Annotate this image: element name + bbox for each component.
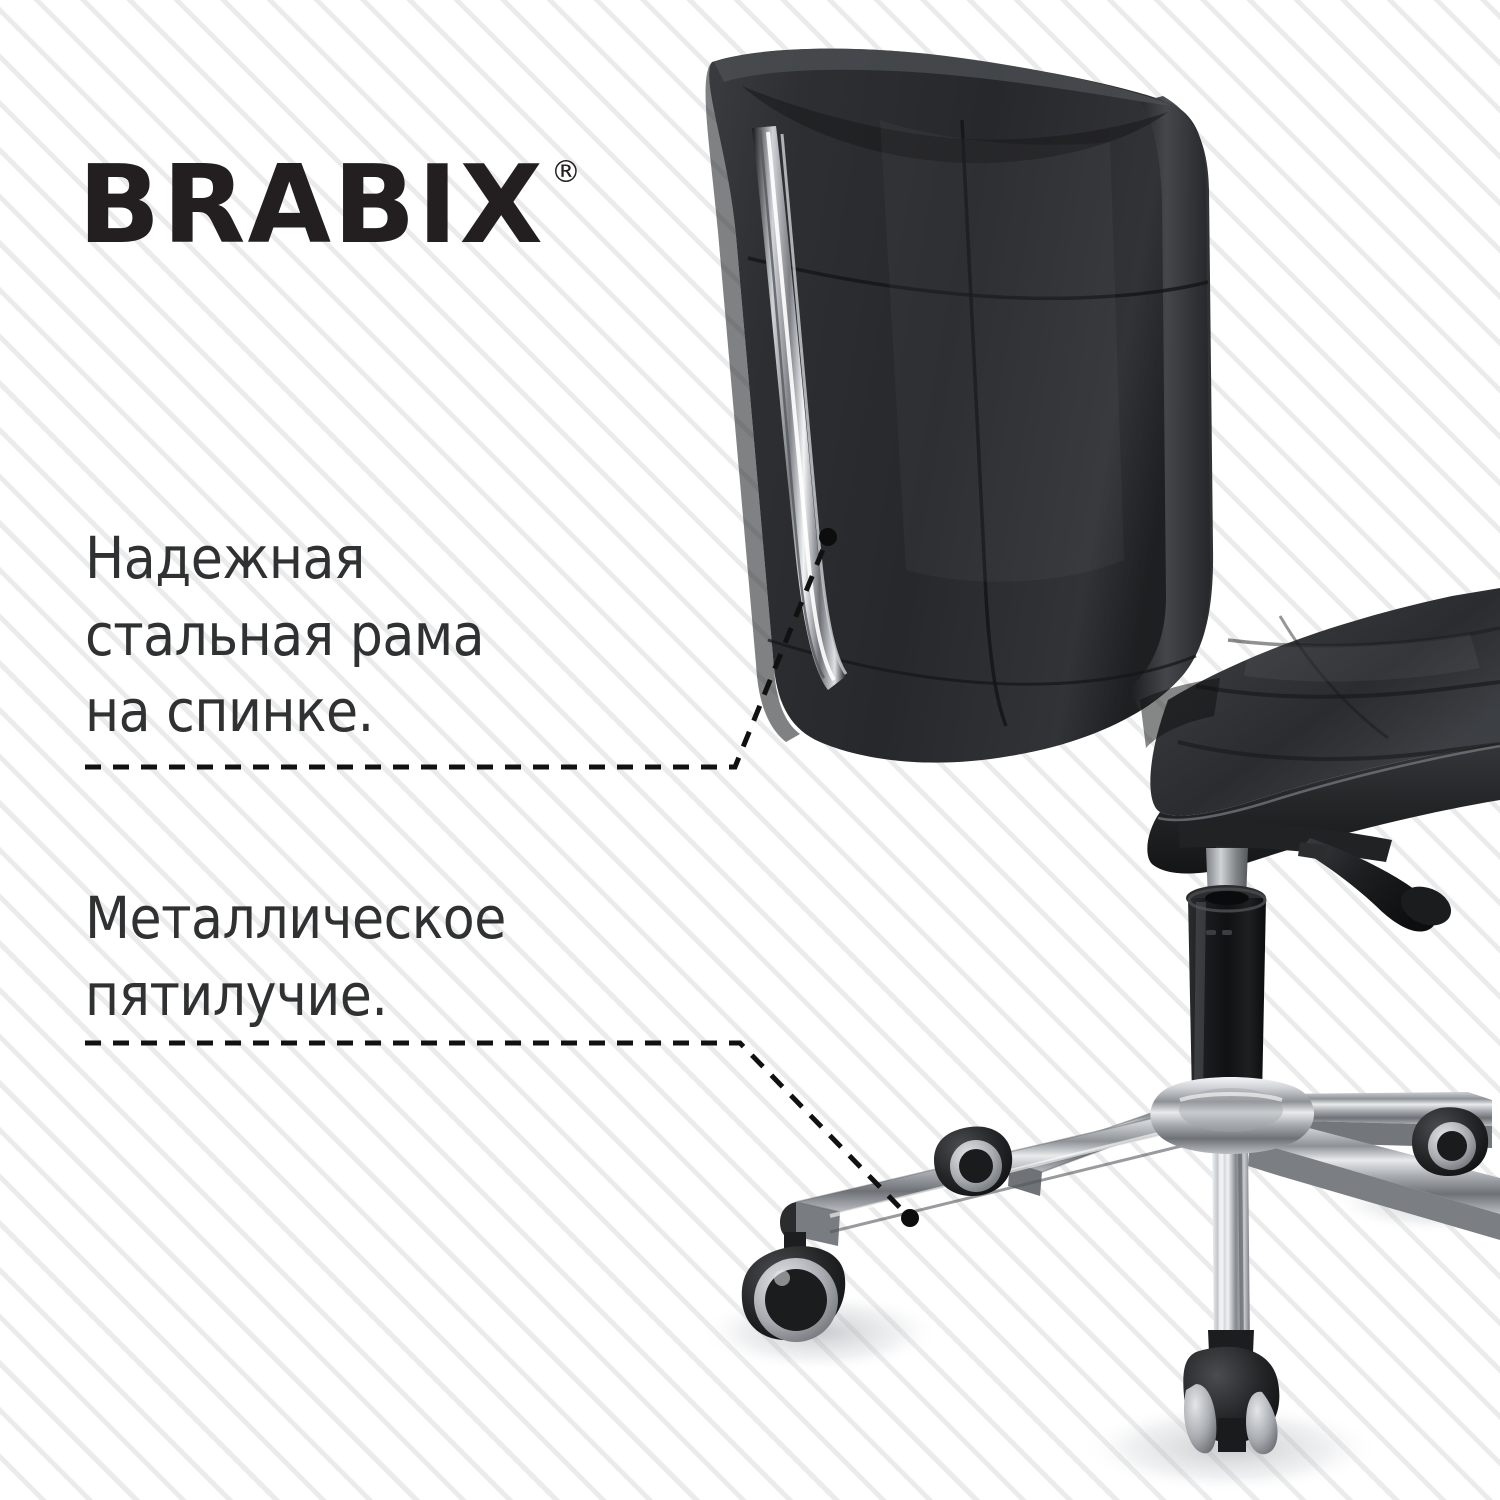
brand-logo: BRABIX ® <box>78 152 581 260</box>
callout-text-five-star-base: Металлическое пятилучие. <box>85 880 765 1033</box>
cylinder-marking-2 <box>1222 930 1232 935</box>
product-infographic-canvas: BRABIX ® Надежная стальная рама на спинк… <box>0 0 1500 1500</box>
registered-trademark-icon: ® <box>551 158 581 188</box>
caster-rear-left <box>934 1126 1012 1196</box>
cylinder-marking-1 <box>1206 930 1216 935</box>
brand-wordmark: BRABIX <box>78 152 545 260</box>
gas-lift-cylinder <box>1186 848 1266 1098</box>
base-arm-front <box>1212 1134 1250 1352</box>
caster-left-rim-shine <box>774 1270 790 1286</box>
caster-rear-right <box>1412 1107 1488 1176</box>
callout-text-back-steel-frame: Надежная стальная рама на спинке. <box>85 520 685 750</box>
chair-backrest <box>706 49 1214 763</box>
base-hub <box>1150 1077 1314 1154</box>
cylinder-inner-hole <box>1205 891 1249 905</box>
backrest-sheen <box>880 120 1124 582</box>
caster-front-fork-gap <box>1218 1418 1246 1452</box>
caster-front <box>1183 1330 1279 1454</box>
